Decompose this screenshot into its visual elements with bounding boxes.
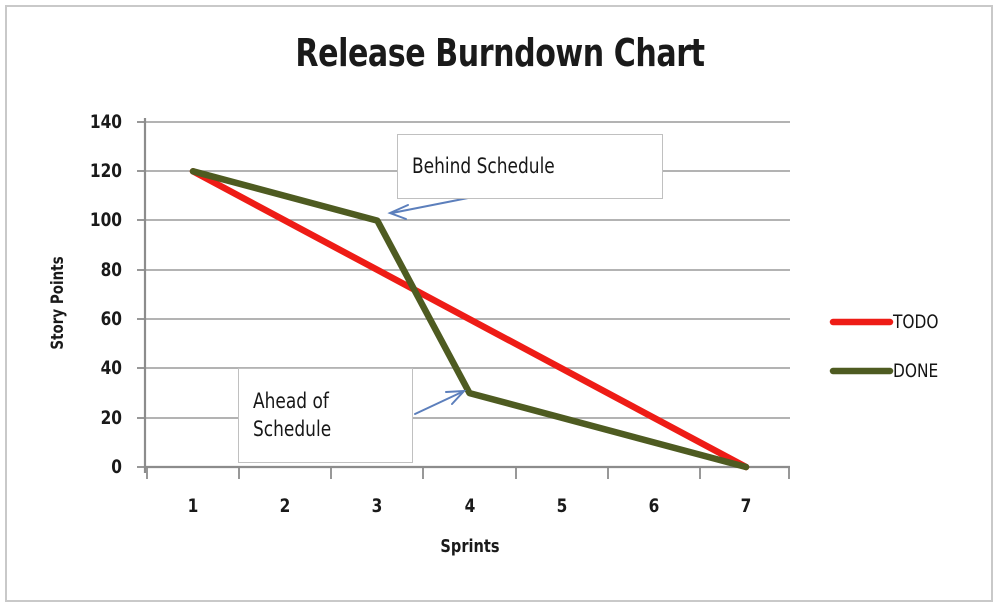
annotation-behind-schedule-line-1: Behind Schedule xyxy=(412,153,637,181)
x-axis-ticks xyxy=(147,467,789,479)
y-tick-100: 100 xyxy=(68,209,122,231)
legend-label-todo: TODO xyxy=(893,311,938,333)
annotation-arrow-ahead xyxy=(415,391,464,414)
y-tick-120: 120 xyxy=(68,160,122,182)
y-tick-40: 40 xyxy=(68,357,122,379)
y-tick-0: 0 xyxy=(68,456,122,478)
y-tick-80: 80 xyxy=(68,259,122,281)
y-axis-ticks xyxy=(137,122,145,467)
annotation-behind-schedule: Behind Schedule xyxy=(397,134,663,199)
x-tick-5: 5 xyxy=(544,495,580,517)
annotation-arrow-behind xyxy=(390,198,468,219)
x-tick-2: 2 xyxy=(267,495,303,517)
x-tick-3: 3 xyxy=(359,495,395,517)
annotation-ahead-of-schedule-line-2: Schedule xyxy=(253,416,396,444)
legend-label-done: DONE xyxy=(893,360,938,382)
annotation-ahead-of-schedule-line-1: Ahead of xyxy=(253,388,396,416)
y-tick-140: 140 xyxy=(68,111,122,133)
annotation-ahead-of-schedule: Ahead of Schedule xyxy=(238,368,413,463)
y-tick-60: 60 xyxy=(68,308,122,330)
x-tick-6: 6 xyxy=(636,495,672,517)
x-axis-title: Sprints xyxy=(389,536,551,557)
y-tick-20: 20 xyxy=(68,407,122,429)
chart-plot-area xyxy=(0,0,1000,609)
x-tick-4: 4 xyxy=(452,495,488,517)
chart-title: Release Burndown Chart xyxy=(60,31,940,75)
y-axis-title: Story Points xyxy=(48,241,68,364)
x-tick-7: 7 xyxy=(728,495,764,517)
x-tick-1: 1 xyxy=(175,495,211,517)
